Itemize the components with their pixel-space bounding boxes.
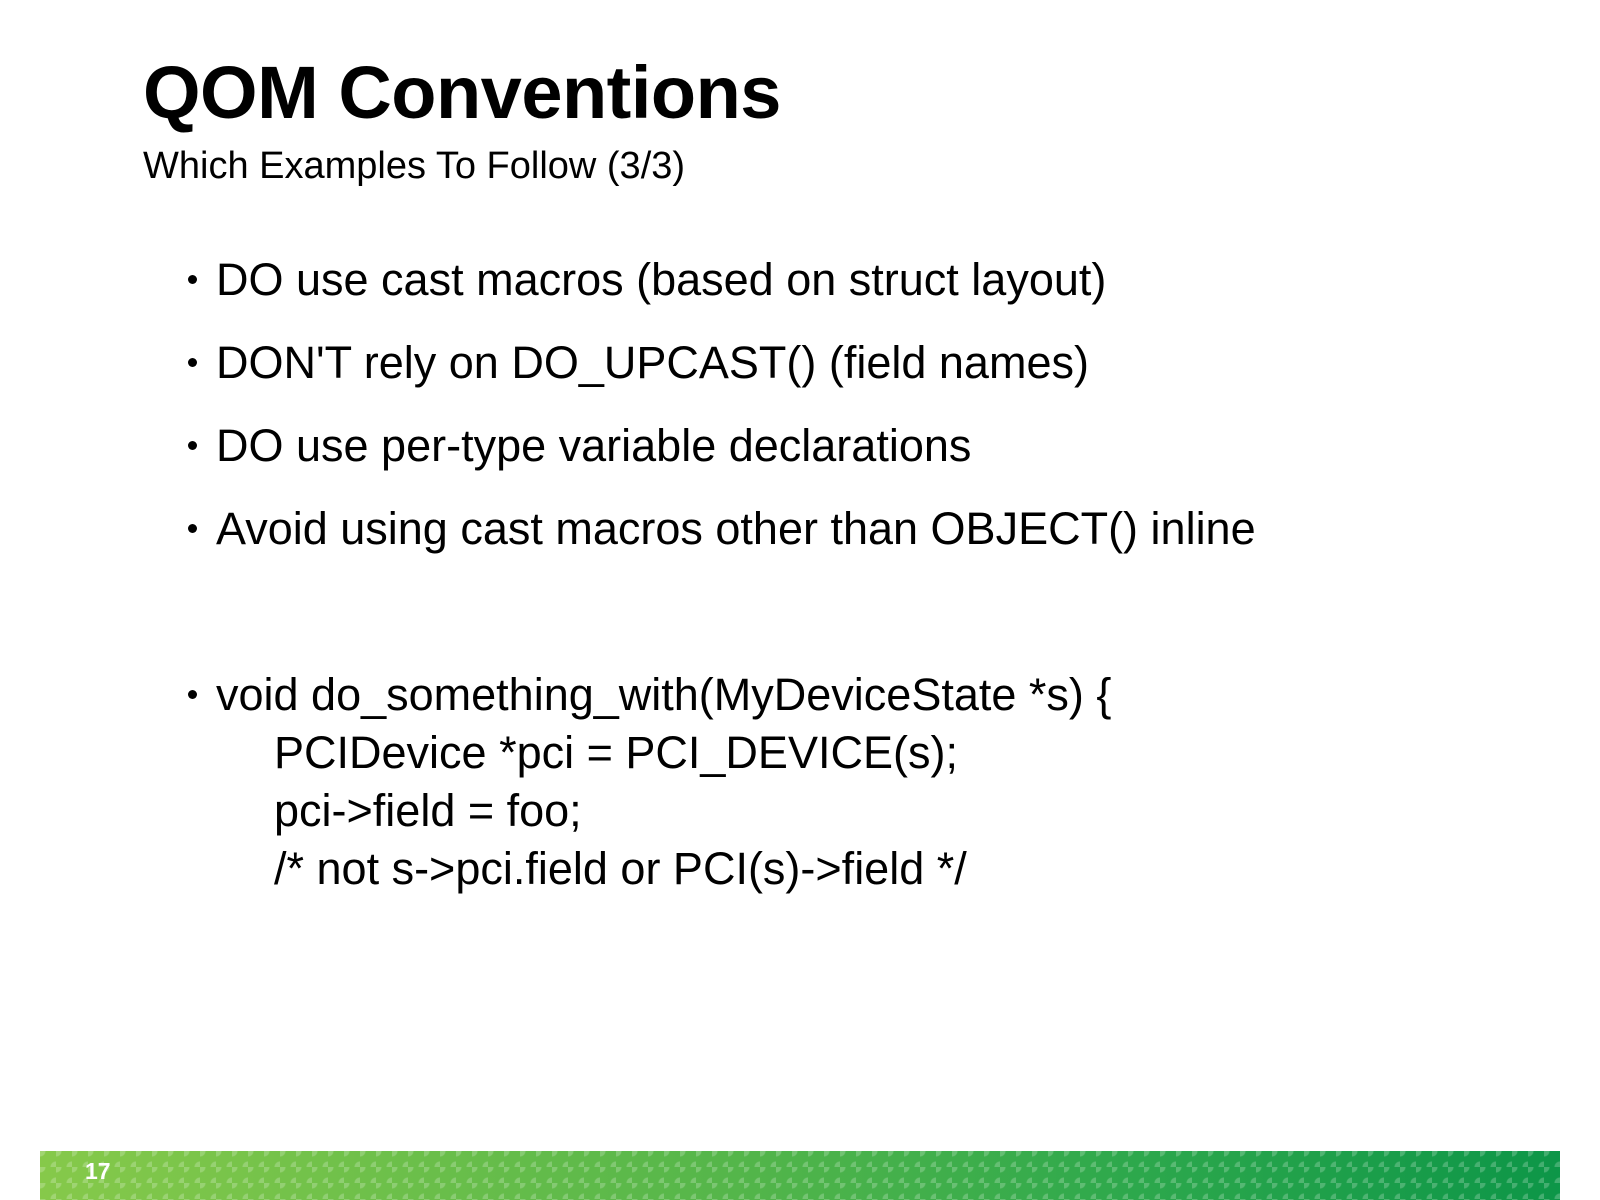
code-line-text: PCIDevice *pci = PCI_DEVICE(s);	[186, 724, 1546, 782]
footer-bar: 17	[40, 1151, 1560, 1200]
code-example-first-line: void do_something_with(MyDeviceState *s)…	[186, 666, 1546, 724]
bullet-dot-icon	[188, 690, 197, 699]
list-item-label: Avoid using cast macros other than OBJEC…	[216, 501, 1256, 556]
code-line-text: pci->field = foo;	[186, 782, 1546, 840]
list-item-label: DO use per-type variable declarations	[216, 418, 971, 473]
code-line-text: /* not s->pci.field or PCI(s)->field */	[186, 840, 1546, 898]
page-number: 17	[85, 1160, 111, 1183]
code-example-block: void do_something_with(MyDeviceState *s)…	[186, 666, 1546, 898]
bullet-dot-icon	[188, 275, 197, 284]
bullet-dot-icon	[188, 358, 197, 367]
slide-canvas: QOM Conventions Which Examples To Follow…	[0, 0, 1600, 1200]
list-item: DO use cast macros (based on struct layo…	[186, 252, 1546, 335]
bullet-list: DO use cast macros (based on struct layo…	[186, 252, 1546, 584]
list-item: Avoid using cast macros other than OBJEC…	[186, 501, 1546, 584]
bullet-dot-icon	[188, 524, 197, 533]
list-item: DON'T rely on DO_UPCAST() (field names)	[186, 335, 1546, 418]
code-line-text: void do_something_with(MyDeviceState *s)…	[216, 669, 1111, 720]
title-block: QOM Conventions Which Examples To Follow…	[143, 56, 1473, 185]
page-subtitle: Which Examples To Follow (3/3)	[143, 147, 1473, 185]
list-item-label: DO use cast macros (based on struct layo…	[216, 252, 1106, 307]
list-item-label: DON'T rely on DO_UPCAST() (field names)	[216, 335, 1089, 390]
bullet-dot-icon	[188, 441, 197, 450]
page-title: QOM Conventions	[143, 56, 1473, 130]
list-item: DO use per-type variable declarations	[186, 418, 1546, 501]
